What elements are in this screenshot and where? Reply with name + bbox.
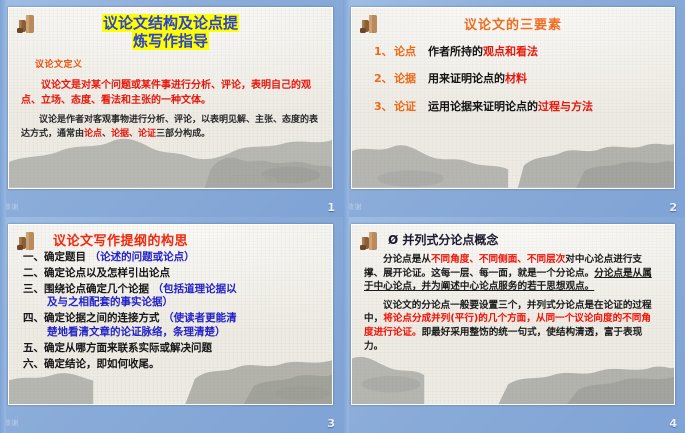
- slide-3-footer-left: 致谢: [4, 418, 19, 428]
- s3-item-1-main: 一、确定题目: [23, 251, 90, 263]
- slide-2[interactable]: 议论文的三要素 1、 论点 作者所持的观点和看法 2、 论据 用来证明论点的材料…: [351, 7, 675, 189]
- slide-1-paragraph-red: 议论文是对某个问题或某件事进行分析、评论，表明自己的观点、立场、态度、看法和主张…: [21, 79, 320, 108]
- s3-item-3-cont: 及与之相配套的事实论据）: [47, 296, 324, 309]
- s3-item-1-blue: （论述的问题或论点）: [90, 251, 195, 263]
- slide-1-footer-left: 致谢: [4, 202, 19, 212]
- slide-4-paragraph-2: 议论文的分论点一般要设置三个，并列式分论点是在论证的过程中，将论点分成并列(平行…: [364, 299, 660, 353]
- slide-3-content: 议论文写作提纲的构思 一、确定题目 （论述的问题或论点） 二、确定论点以及怎样引…: [9, 225, 332, 404]
- slide-1-footer: 致谢 1: [0, 191, 343, 217]
- slide-1-title-line1: 议论文结构及论点提: [102, 14, 239, 32]
- s3-item-4-main: 四、确定论据之间的连接方式: [23, 312, 163, 324]
- list-item: 1、 论点 作者所持的观点和看法: [374, 43, 666, 59]
- slide-cell-1[interactable]: 议论文结构及论点提 炼写作指导 议论文定义 议论文是对某个问题或某件事进行分析、…: [0, 0, 343, 217]
- s2-item-3-plain: 运用论据来证明论点的: [428, 100, 538, 113]
- s3-item-5-main: 五、确定从哪方面来联系实际或解决问题: [23, 342, 212, 354]
- list-item: 一、确定题目 （论述的问题或论点）: [23, 251, 324, 264]
- slide-cell-2[interactable]: 议论文的三要素 1、 论点 作者所持的观点和看法 2、 论据 用来证明论点的材料…: [343, 0, 685, 217]
- s1-p2-b: 、: [102, 129, 111, 139]
- slide-thumbnail-grid: 议论文结构及论点提 炼写作指导 议论文定义 议论文是对某个问题或某件事进行分析、…: [0, 0, 685, 433]
- slide-2-footer: 致谢 2: [343, 191, 685, 217]
- slide-3-page-number: 3: [327, 417, 335, 430]
- s3-item-3-blue: （包括道理论据以: [153, 283, 237, 295]
- slide-3[interactable]: 议论文写作提纲的构思 一、确定题目 （论述的问题或论点） 二、确定论点以及怎样引…: [8, 224, 333, 405]
- slide-4-content: Ø 并列式分论点概念 分论点是从不同角度、不同侧面、不同层次对中心论点进行支撑、…: [352, 225, 674, 404]
- slide-1-page-number: 1: [327, 201, 335, 214]
- slide-cell-4[interactable]: Ø 并列式分论点概念 分论点是从不同角度、不同侧面、不同层次对中心论点进行支撑、…: [343, 217, 685, 433]
- list-item: 四、确定论据之间的连接方式 （使读者更能清楚地看清文章的论证脉络，条理清楚）: [23, 312, 324, 339]
- s2-item-1-value: 作者所持的观点和看法: [428, 45, 538, 59]
- slide-4-footer: 4: [343, 407, 685, 433]
- slide-1-title-line2: 炼写作指导: [132, 32, 209, 50]
- slide-1-paragraph-dark: 议论是作者对客观事物进行分析、评论，以表明见解、主张、态度的表达方式，通常由论点…: [21, 114, 320, 141]
- slide-4-paragraph-1: 分论点是从不同角度、不同侧面、不同层次对中心论点进行支撑、展开论证。这每一层、每…: [364, 253, 660, 294]
- s2-item-1-key: 论点: [394, 43, 428, 59]
- list-item: 五、确定从哪方面来联系实际或解决问题: [23, 342, 324, 355]
- slide-2-content: 议论文的三要素 1、 论点 作者所持的观点和看法 2、 论据 用来证明论点的材料…: [352, 8, 674, 188]
- list-item: 3、 论证 运用论据来证明论点的过程与方法: [374, 98, 666, 114]
- slide-4-bullet-icon: Ø: [388, 233, 398, 247]
- slide-2-title: 议论文的三要素: [360, 14, 666, 33]
- slide-4-title-text: 并列式分论点概念: [402, 233, 498, 247]
- s2-item-1-plain: 作者所持的: [428, 45, 483, 58]
- s1-p2-c: 三部分构成。: [156, 129, 210, 139]
- s2-item-2-number: 2、: [374, 70, 394, 86]
- s3-item-4-cont: 楚地看清文章的论证脉络，条理清楚）: [47, 326, 324, 339]
- slide-1-content: 议论文结构及论点提 炼写作指导 议论文定义 议论文是对某个问题或某件事进行分析、…: [9, 8, 332, 188]
- s2-item-3-number: 3、: [374, 98, 394, 114]
- s1-p2-red2: 论据、论证: [111, 129, 156, 139]
- slide-1-subheading: 议论文定义: [35, 57, 324, 70]
- s1-p2-red1: 论点: [84, 129, 102, 139]
- slide-1-title: 议论文结构及论点提 炼写作指导: [17, 15, 324, 50]
- s3-item-3-main: 三、围绕论点确定几个论据: [23, 283, 153, 295]
- s2-item-3-red: 过程与方法: [538, 100, 593, 113]
- s2-item-2-value: 用来证明论点的材料: [428, 72, 527, 86]
- slide-1[interactable]: 议论文结构及论点提 炼写作指导 议论文定义 议论文是对某个问题或某件事进行分析、…: [8, 7, 333, 189]
- slide-3-title: 议论文写作提纲的构思: [53, 230, 324, 249]
- s2-item-2-plain: 用来证明论点的: [428, 72, 505, 85]
- slide-2-footer-left: 致谢: [347, 202, 362, 212]
- s2-item-3-key: 论证: [394, 98, 428, 114]
- s2-item-2-red: 材料: [505, 72, 527, 85]
- s2-item-1-red: 观点和看法: [483, 45, 538, 58]
- slide-2-page-number: 2: [669, 201, 677, 214]
- s3-item-2-main: 二、确定论点以及怎样引出论点: [23, 267, 170, 279]
- slide-2-list: 1、 论点 作者所持的观点和看法 2、 论据 用来证明论点的材料 3、 论证 运…: [374, 43, 666, 114]
- s2-item-1-number: 1、: [374, 43, 394, 59]
- s4-p1-a: 分论点是从: [383, 254, 431, 265]
- list-item: 2、 论据 用来证明论点的材料: [374, 70, 666, 86]
- slide-4-title: Ø 并列式分论点概念: [388, 231, 666, 248]
- list-item: 六、确定结论，即如何收尾。: [23, 358, 324, 371]
- slide-4[interactable]: Ø 并列式分论点概念 分论点是从不同角度、不同侧面、不同层次对中心论点进行支撑、…: [351, 224, 675, 405]
- s2-item-3-value: 运用论据来证明论点的过程与方法: [428, 100, 593, 114]
- slide-4-page-number: 4: [669, 417, 677, 430]
- s3-item-4-blue: （使读者更能清: [163, 312, 237, 324]
- s4-p1-red: 不同角度、不同侧面、不同层次: [431, 254, 565, 265]
- s3-item-6-main: 六、确定结论，即如何收尾。: [23, 358, 160, 370]
- list-item: 三、围绕论点确定几个论据 （包括道理论据以及与之相配套的事实论据）: [23, 283, 324, 310]
- slide-cell-3[interactable]: 议论文写作提纲的构思 一、确定题目 （论述的问题或论点） 二、确定论点以及怎样引…: [0, 217, 343, 433]
- list-item: 二、确定论点以及怎样引出论点: [23, 267, 324, 280]
- slide-3-list: 一、确定题目 （论述的问题或论点） 二、确定论点以及怎样引出论点 三、围绕论点确…: [23, 251, 324, 371]
- s2-item-2-key: 论据: [394, 70, 428, 86]
- slide-3-footer: 致谢 3: [0, 407, 343, 433]
